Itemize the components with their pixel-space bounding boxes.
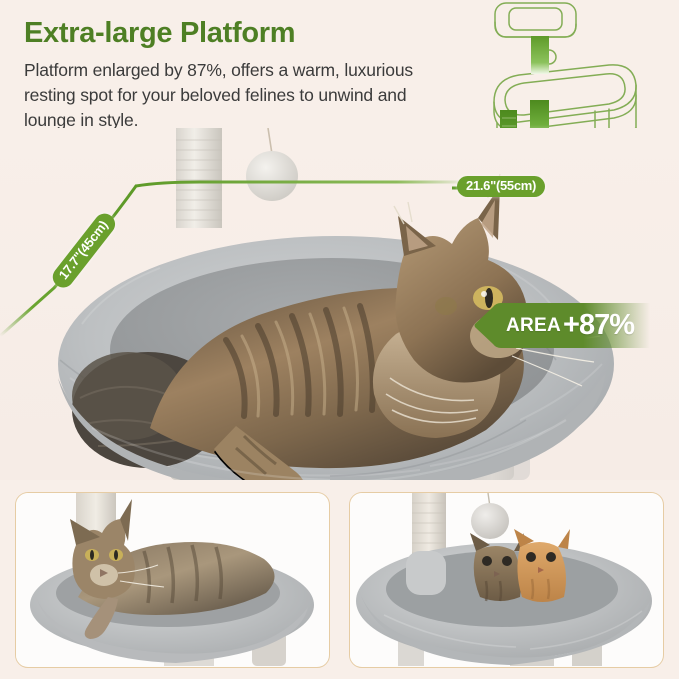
page-title: Extra-large Platform <box>24 18 295 50</box>
thumb-single-cat-photo <box>16 493 329 667</box>
area-increase-badge: AREA +87% <box>474 301 650 350</box>
product-feature-card: Extra-large Platform Platform enlarged b… <box>0 0 679 679</box>
area-badge-arrow-shape <box>474 301 650 350</box>
thumb-two-kittens[interactable] <box>349 492 664 668</box>
dimension-label-width: 21.6"(55cm) <box>457 176 545 197</box>
thumb-single-cat-image <box>16 493 328 666</box>
thumb-two-kittens-photo <box>350 493 663 667</box>
page-description: Platform enlarged by 87%, offers a warm,… <box>24 58 444 133</box>
thumb-two-kittens-image <box>350 493 662 666</box>
thumb-single-cat[interactable] <box>15 492 330 668</box>
